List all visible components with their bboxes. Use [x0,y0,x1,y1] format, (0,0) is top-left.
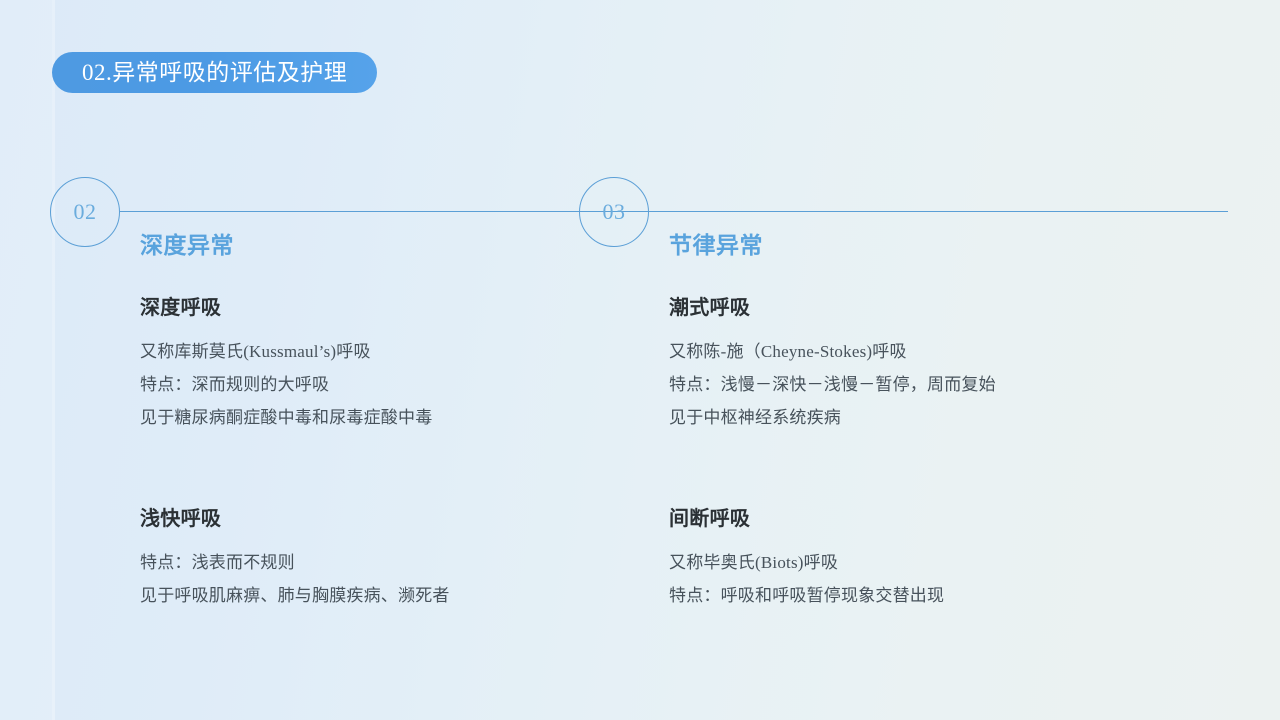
block-title: 潮式呼吸 [669,295,1189,321]
timeline-node-02: 02 [50,177,120,247]
column-rhythm-abnormality: 节律异常 潮式呼吸 又称陈-施（Cheyne-Stokes)呼吸 特点：浅慢－深… [669,232,1189,612]
block-lines: 又称毕奥氏(Biots)呼吸 特点：呼吸和呼吸暂停现象交替出现 [669,546,1189,612]
block-line: 又称毕奥氏(Biots)呼吸 [669,546,1189,579]
block-title: 浅快呼吸 [140,506,610,532]
timeline-node-number: 03 [603,201,626,223]
column-depth-abnormality: 深度异常 深度呼吸 又称库斯莫氏(Kussmaul’s)呼吸 特点：深而规则的大… [140,232,610,612]
timeline-line [120,211,1228,212]
column-title: 节律异常 [669,232,1189,261]
block-lines: 特点：浅表而不规则 见于呼吸肌麻痹、肺与胸膜疾病、濒死者 [140,546,610,612]
block-line: 见于呼吸肌麻痹、肺与胸膜疾病、濒死者 [140,579,610,612]
timeline-node-number: 02 [74,201,97,223]
block-line: 又称陈-施（Cheyne-Stokes)呼吸 [669,335,1189,368]
block-line: 特点：浅表而不规则 [140,546,610,579]
section-badge-label: 02.异常呼吸的评估及护理 [82,61,347,84]
content-block-deep-breathing: 深度呼吸 又称库斯莫氏(Kussmaul’s)呼吸 特点：深而规则的大呼吸 见于… [140,295,610,434]
block-line: 见于糖尿病酮症酸中毒和尿毒症酸中毒 [140,401,610,434]
block-lines: 又称陈-施（Cheyne-Stokes)呼吸 特点：浅慢－深快－浅慢－暂停，周而… [669,335,1189,434]
block-title: 间断呼吸 [669,506,1189,532]
block-lines: 又称库斯莫氏(Kussmaul’s)呼吸 特点：深而规则的大呼吸 见于糖尿病酮症… [140,335,610,434]
content-block-cheyne-stokes: 潮式呼吸 又称陈-施（Cheyne-Stokes)呼吸 特点：浅慢－深快－浅慢－… [669,295,1189,434]
background-band-divider [52,0,55,720]
block-line: 特点：浅慢－深快－浅慢－暂停，周而复始 [669,368,1189,401]
background-band-left [0,0,52,720]
column-title: 深度异常 [140,232,610,261]
block-line: 特点：深而规则的大呼吸 [140,368,610,401]
block-line: 又称库斯莫氏(Kussmaul’s)呼吸 [140,335,610,368]
slide-canvas: 02.异常呼吸的评估及护理 02 03 深度异常 深度呼吸 又称库斯莫氏(Kus… [0,0,1280,720]
block-title: 深度呼吸 [140,295,610,321]
content-block-biots: 间断呼吸 又称毕奥氏(Biots)呼吸 特点：呼吸和呼吸暂停现象交替出现 [669,506,1189,612]
section-badge: 02.异常呼吸的评估及护理 [52,52,377,93]
block-line: 见于中枢神经系统疾病 [669,401,1189,434]
block-line: 特点：呼吸和呼吸暂停现象交替出现 [669,579,1189,612]
content-block-shallow-rapid-breathing: 浅快呼吸 特点：浅表而不规则 见于呼吸肌麻痹、肺与胸膜疾病、濒死者 [140,506,610,612]
